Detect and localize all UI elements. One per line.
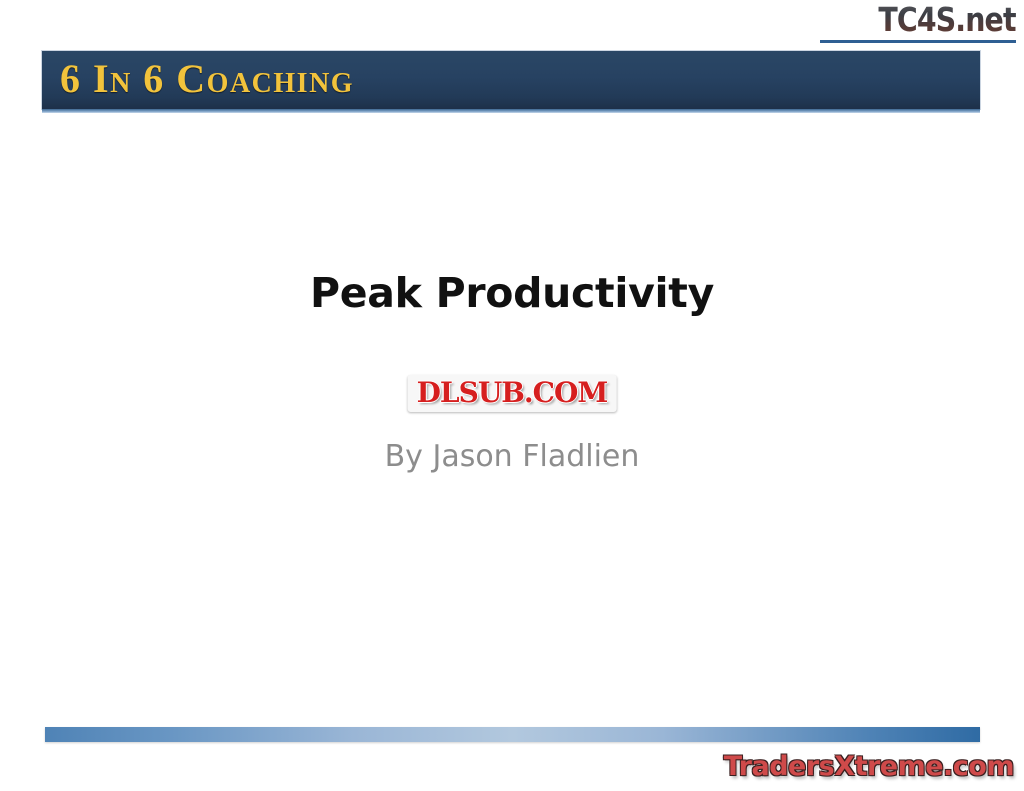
- tc4s-watermark-underline: [820, 40, 1016, 43]
- header-banner-title: 6 In 6 Coaching: [60, 57, 354, 101]
- tradersxtreme-watermark: TradersXtreme.com: [724, 752, 1014, 782]
- footer-divider-rule: [45, 727, 980, 742]
- presentation-slide: TC4S.net 6 In 6 Coaching Peak Productivi…: [0, 0, 1024, 791]
- tc4s-watermark: TC4S.net: [879, 2, 1016, 38]
- slide-title: Peak Productivity: [0, 268, 1024, 318]
- dlsub-logo: DLSUB.COM: [408, 375, 617, 412]
- slide-header-banner: 6 In 6 Coaching: [42, 51, 980, 109]
- slide-byline: By Jason Fladlien: [0, 438, 1024, 476]
